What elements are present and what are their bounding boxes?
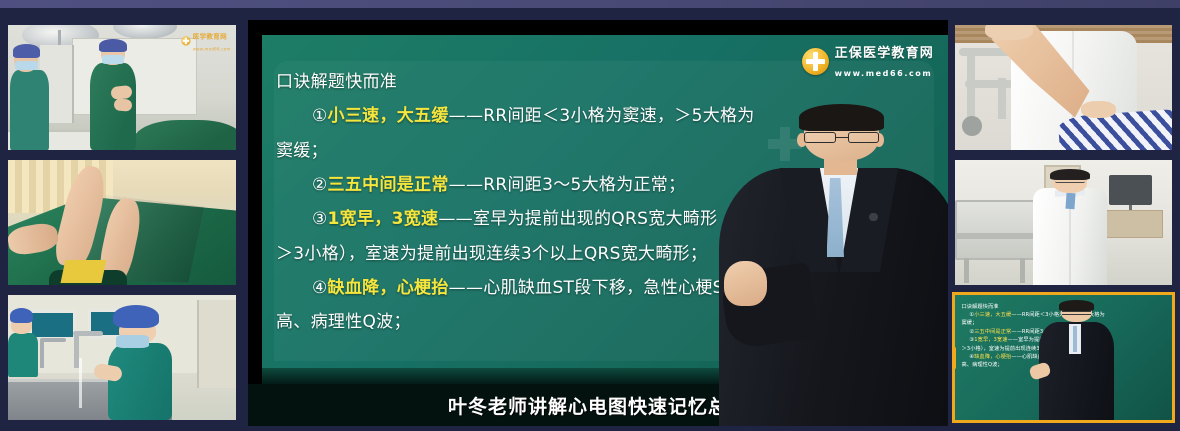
thumb-arm-exam[interactable] [955, 25, 1172, 150]
mini-slide-keyword: 三五中间是正常 [974, 329, 1011, 335]
med66-cross-icon [182, 36, 191, 45]
med66-watermark: 医学教育网 www.med66.com [182, 29, 231, 53]
mini-slide-text: 高、病理性Q波； [962, 362, 1003, 368]
slide-text: ④ [312, 278, 328, 298]
lecturer-figure [714, 109, 948, 426]
scrub-sink-image [8, 295, 236, 420]
med66-logo: 正保医学教育网 www.med66.com [802, 43, 934, 79]
logo-url: www.med66.com [835, 69, 933, 78]
slide-text: ③ [312, 209, 328, 229]
slide-text: ——RR间距3～5大格为正常； [449, 175, 686, 195]
mini-slide-keyword: 1宽早，3宽速 [974, 337, 1007, 343]
slide-keyword: 小三速，大五缓 [328, 106, 449, 126]
slide-text: 窦缓； [276, 141, 328, 161]
watermark-name: 医学教育网 [193, 33, 227, 40]
slide-text: ——RR间距＜3小格为窦速，＞5大格为 [449, 106, 755, 126]
arm-exam-image [955, 25, 1172, 150]
lecture-slide: 口诀解题快而准 ①小三速，大五缓——RR间距＜3小格为窦速，＞5大格为窦缓；②三… [262, 35, 948, 384]
thumb-lecture-slide[interactable]: 口诀解题快而准①小三速，大五缓——RR间距＜3小格为窦速，＞5大格为窦缓；②三五… [955, 295, 1172, 420]
right-thumbnail-column: 口诀解题快而准①小三速，大五缓——RR间距＜3小格为窦速，＞5大格为窦缓；②三五… [955, 8, 1180, 431]
left-thumbnail-column: 医学教育网 www.med66.com [8, 8, 248, 431]
surgical-drape-image [8, 160, 236, 285]
slide-text: ——心肌缺血ST段下移，急性心梗ST抬 [449, 278, 752, 298]
logo-name: 正保医学教育网 [835, 46, 934, 61]
slide-text: ① [312, 106, 328, 126]
gallery-page: 医学教育网 www.med66.com [0, 8, 1180, 431]
slide-text: ② [312, 175, 328, 195]
mini-slide-keyword: 小三速，大五缓 [974, 312, 1011, 318]
watermark-url: www.med66.com [193, 48, 231, 52]
top-accent-bar [0, 0, 1180, 8]
lecture-slide-thumbnail-image: 口诀解题快而准①小三速，大五缓——RR间距＜3小格为窦速，＞5大格为窦缓；②三五… [955, 295, 1172, 420]
mini-slide-keyword: 缺血降，心梗抬 [974, 354, 1011, 360]
slide-keyword: 缺血降，心梗抬 [328, 278, 449, 298]
slide-text: ＞3小格），室速为提前出现连续3个以上QRS宽大畸形； [276, 244, 707, 264]
thumb-surgical-drape[interactable] [8, 160, 236, 285]
mini-slide-text: 窦缓； [962, 320, 978, 326]
thumb-scrub-sink[interactable] [8, 295, 236, 420]
active-thumbnail-caret-icon [955, 347, 956, 369]
slide-keyword: 三五中间是正常 [328, 175, 449, 195]
doctor-image [955, 160, 1172, 285]
slide-text: 高、病理性Q波； [276, 312, 411, 332]
video-caption-text: 叶冬老师讲解心电图快速记忆总结 [448, 392, 748, 419]
thumb-operating-room[interactable]: 医学教育网 www.med66.com [8, 25, 236, 150]
thumb-doctor[interactable] [955, 160, 1172, 285]
main-video-player[interactable]: 口诀解题快而准 ①小三速，大五缓——RR间距＜3小格为窦速，＞5大格为窦缓；②三… [248, 20, 948, 426]
med66-cross-icon [802, 48, 829, 75]
slide-keyword: 1宽早，3宽速 [328, 209, 439, 229]
